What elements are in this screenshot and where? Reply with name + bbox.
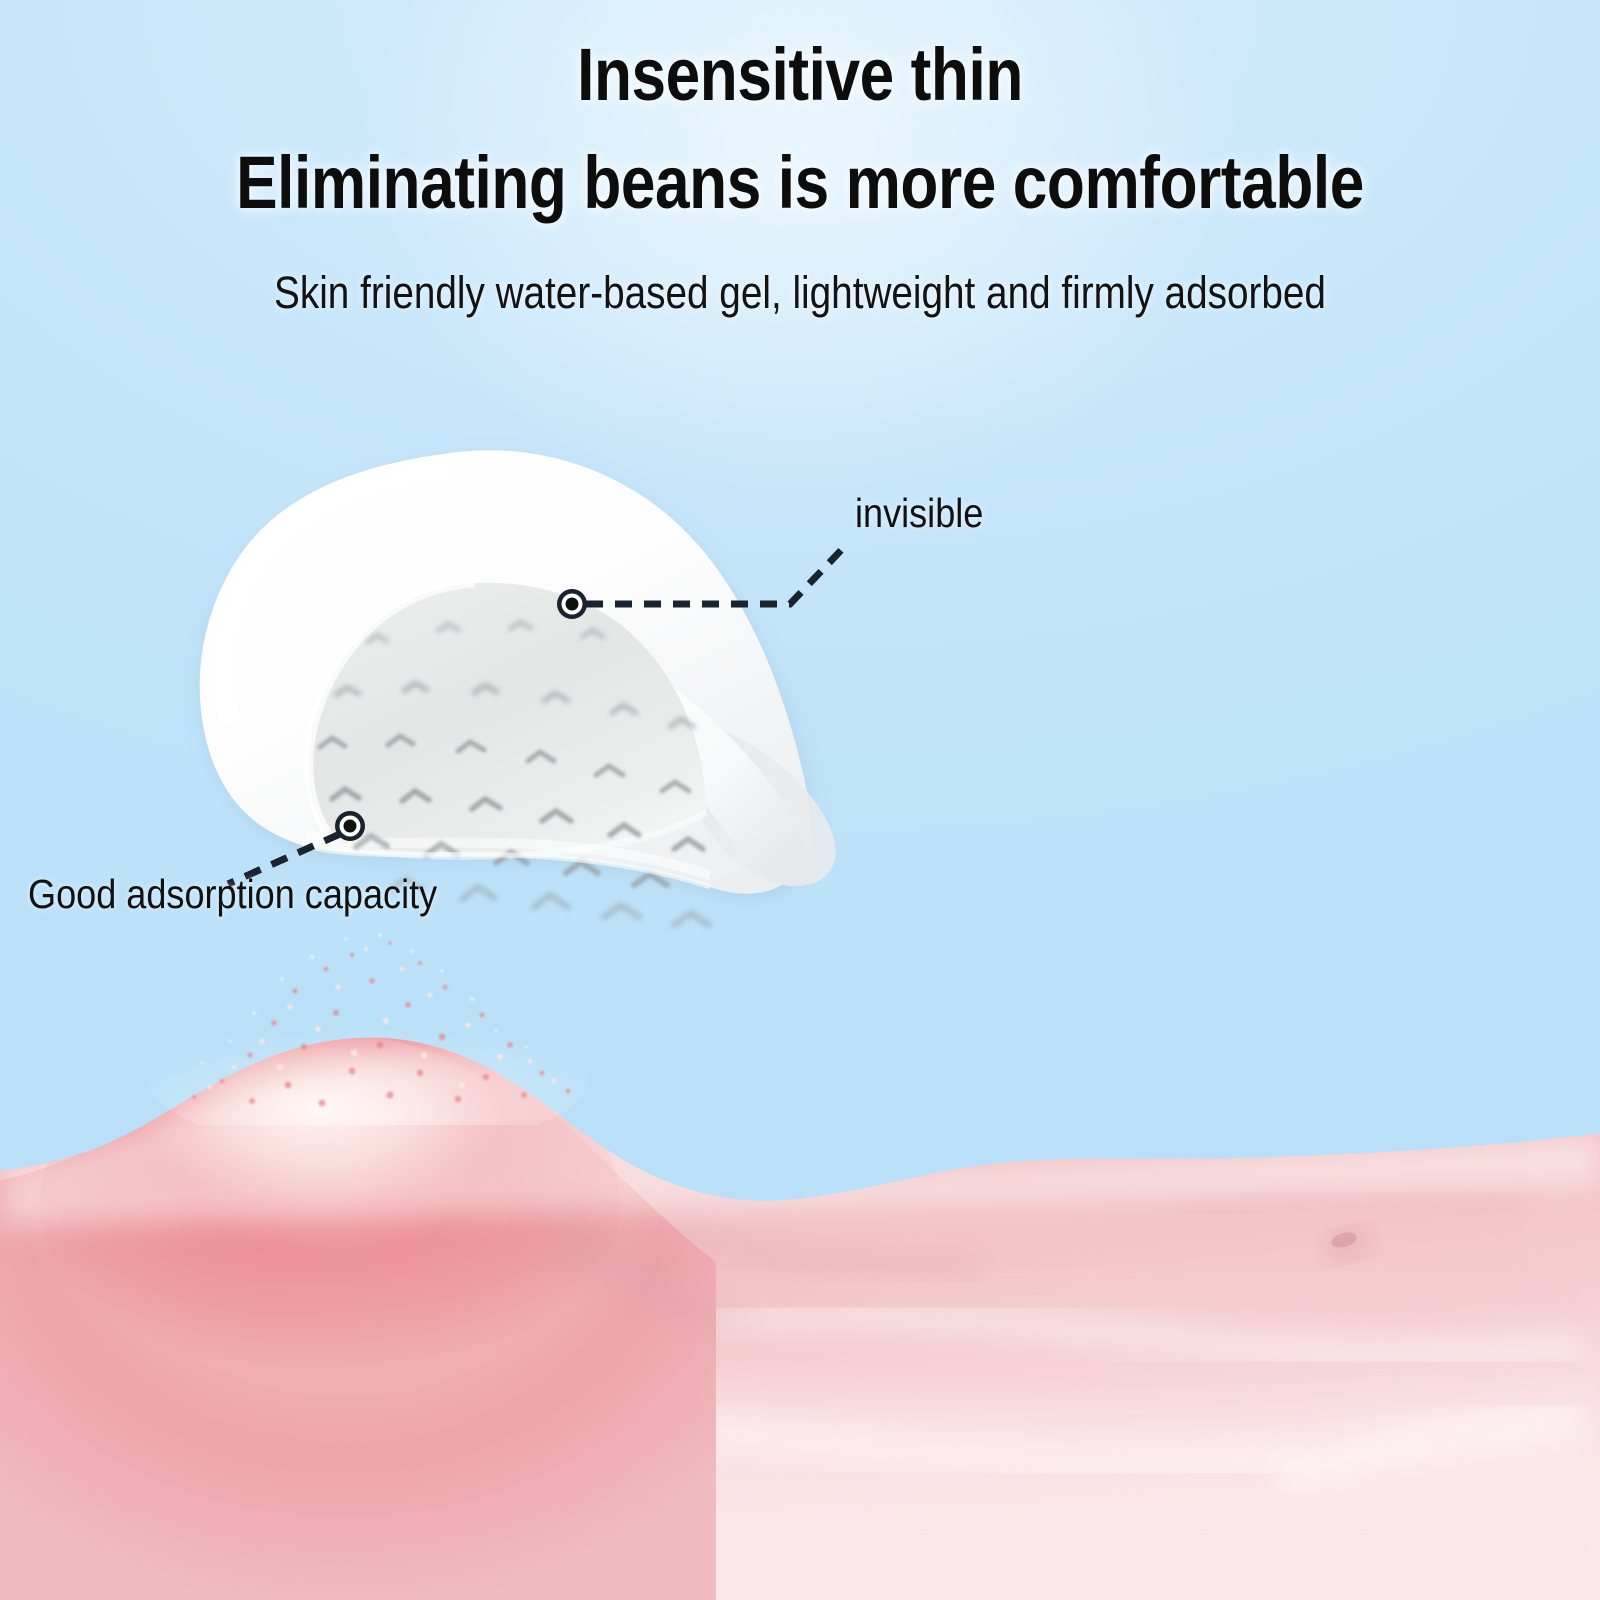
- callout-label-adsorption: Good adsorption capacity: [28, 874, 437, 915]
- callout-label-invisible: invisible: [855, 493, 983, 534]
- callout-marker-invisible: [557, 589, 587, 619]
- product-banner: Insensitive thin Eliminating beans is mo…: [0, 0, 1600, 1600]
- callout-line-invisible: [586, 543, 848, 604]
- callout-marker-adsorption: [335, 811, 365, 841]
- callout-lines: [0, 0, 1600, 1600]
- callout-annotations: invisible Good adsorption capacity: [0, 0, 1600, 1600]
